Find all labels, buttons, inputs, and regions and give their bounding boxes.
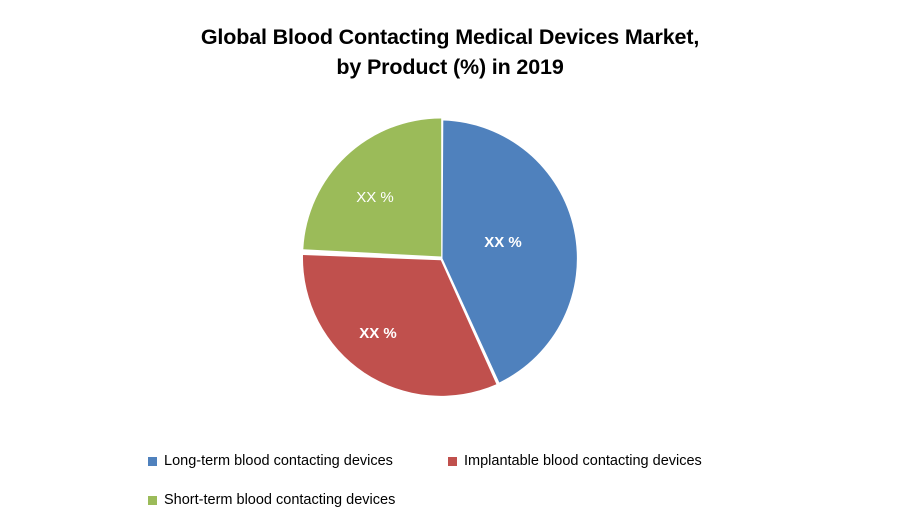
legend-label-short-term: Short-term blood contacting devices [164,492,395,508]
legend-label-long-term: Long-term blood contacting devices [164,453,393,469]
pie-label-implantable: XX % [359,325,397,342]
pie-plot-area: XX % XX % XX % [296,112,588,404]
legend-item-long-term[interactable]: Long-term blood contacting devices [148,450,393,472]
chart-title-line-2: by Product (%) in 2019 [0,52,900,82]
legend-label-implantable: Implantable blood contacting devices [464,453,702,469]
legend-swatch-implantable [448,457,457,466]
legend-swatch-long-term [148,457,157,466]
legend-item-short-term[interactable]: Short-term blood contacting devices [148,489,395,511]
chart-title: Global Blood Contacting Medical Devices … [0,22,900,82]
legend-swatch-short-term [148,496,157,505]
legend-item-implantable[interactable]: Implantable blood contacting devices [448,450,702,472]
pie-svg: XX % XX % XX % [296,112,588,404]
pie-label-long-term: XX % [484,234,522,251]
pie-slice-short-term[interactable] [303,118,441,256]
chart-title-line-1: Global Blood Contacting Medical Devices … [0,22,900,52]
pie-label-short-term: XX % [356,189,394,206]
pie-chart-figure: Global Blood Contacting Medical Devices … [0,0,900,525]
